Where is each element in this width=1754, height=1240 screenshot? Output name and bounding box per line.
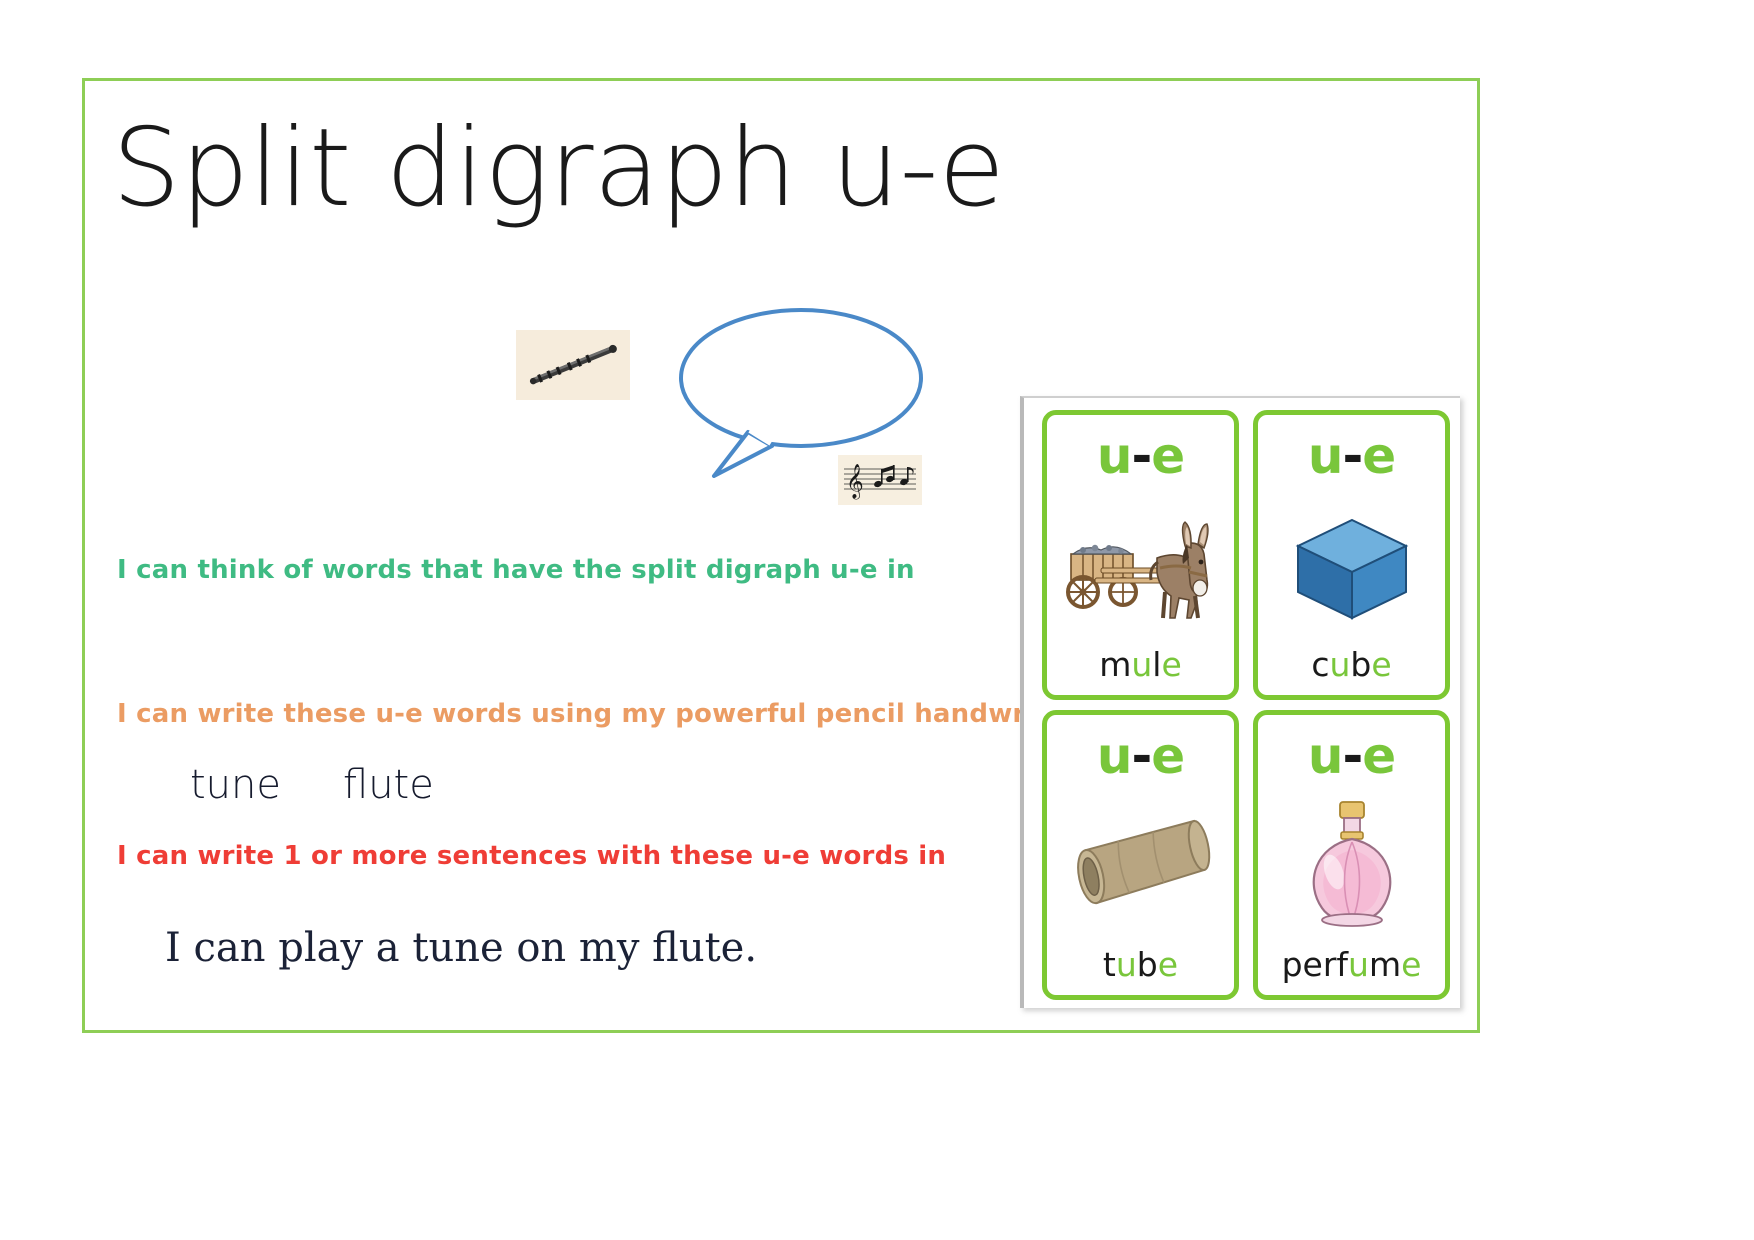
card-word-silent-e: e <box>1158 945 1178 984</box>
card-word-vowel: u <box>1131 645 1152 684</box>
handwriting-words: tuneflute <box>190 762 434 808</box>
objective-write-words: I can write these u-e words using my pow… <box>117 699 1094 729</box>
flashcard-cube[interactable]: u-e cube <box>1253 410 1450 700</box>
card-word-part: perf <box>1282 945 1348 984</box>
flashcard-tube[interactable]: u-e <box>1042 710 1239 1000</box>
card-word-mule: mule <box>1099 648 1182 681</box>
card-digraph-label: u-e <box>1097 431 1184 481</box>
svg-text:𝄞: 𝄞 <box>846 464 864 500</box>
flashcard-mule[interactable]: u-e <box>1042 410 1239 700</box>
cardboard-tube-icon <box>1047 781 1234 948</box>
handwriting-word-tune: tune <box>190 762 281 808</box>
card-word-vowel: u <box>1329 645 1350 684</box>
page-title: Split digraph u-e <box>112 112 1005 225</box>
handwriting-sentence: I can play a tune on my flute. <box>165 925 757 971</box>
card-word-part: c <box>1311 645 1329 684</box>
perfume-bottle-icon <box>1258 781 1445 948</box>
card-word-cube: cube <box>1311 648 1391 681</box>
card-digraph-label: u-e <box>1308 431 1395 481</box>
worksheet-page: Split digraph u-e <box>0 0 1754 1240</box>
card-digraph-label: u-e <box>1308 731 1395 781</box>
card-word-mid: b <box>1137 945 1158 984</box>
card-word-perfume: perfume <box>1282 948 1422 981</box>
flashcards-grid: u-e <box>1042 410 1450 1000</box>
card-word-vowel: u <box>1348 945 1369 984</box>
mule-with-cart-icon <box>1047 481 1234 648</box>
card-word-mid: b <box>1350 645 1371 684</box>
speech-bubble-icon <box>676 300 926 480</box>
card-word-silent-e: e <box>1401 945 1421 984</box>
card-word-part: t <box>1103 945 1116 984</box>
blue-cube-icon <box>1258 481 1445 648</box>
flute-photo <box>516 330 630 400</box>
flashcards-panel: u-e <box>1020 396 1460 1008</box>
card-word-tube: tube <box>1103 948 1178 981</box>
handwriting-word-flute: flute <box>343 762 434 808</box>
card-word-vowel: u <box>1116 945 1137 984</box>
card-word-mid: m <box>1369 945 1401 984</box>
card-word-silent-e: e <box>1371 645 1391 684</box>
music-notes-photo: 𝄞 <box>838 455 922 505</box>
card-word-silent-e: e <box>1161 645 1181 684</box>
objective-think: I can think of words that have the split… <box>117 555 915 585</box>
flashcard-perfume[interactable]: u-e <box>1253 710 1450 1000</box>
card-word-part: m <box>1099 645 1131 684</box>
objective-write-sentences: I can write 1 or more sentences with the… <box>117 841 946 871</box>
card-digraph-label: u-e <box>1097 731 1184 781</box>
